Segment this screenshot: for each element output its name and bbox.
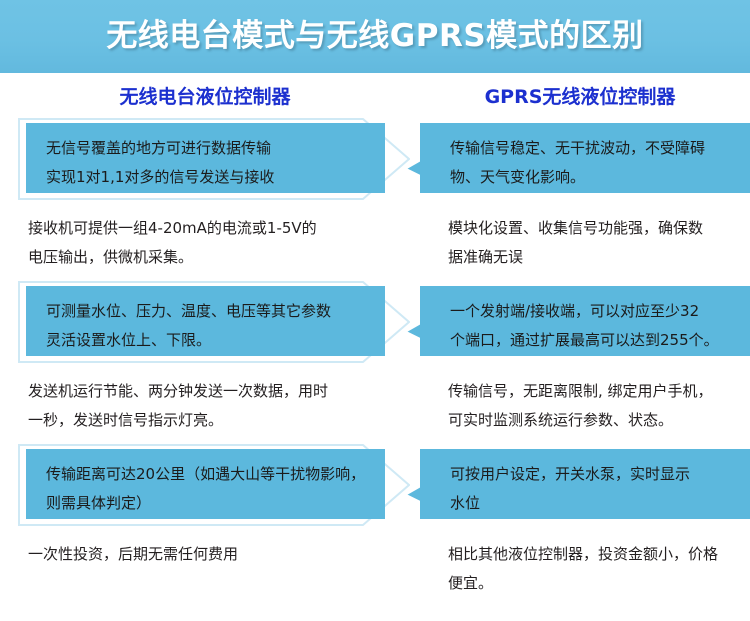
row-cell-left: 可测量水位、压力、温度、电压等其它参数灵活设置水位上、下限。 <box>0 278 410 365</box>
text-line: 可按用户设定，开关水泵，实时显示 <box>450 460 736 489</box>
page-title: 无线电台模式与无线GPRS模式的区别 <box>106 21 643 52</box>
left-plain-text: 接收机可提供一组4-20mA的电流或1-5V的电压输出，供微机采集。 <box>0 202 410 272</box>
text-line: 据准确无误 <box>448 243 736 272</box>
column-heading-right: GPRS无线液位控制器 <box>410 82 750 109</box>
text-line: 可测量水位、压力、温度、电压等其它参数 <box>46 297 369 326</box>
text-line: 物、天气变化影响。 <box>450 163 736 192</box>
right-box-text: 一个发射端/接收端，可以对应至少32个端口，通过扩展最高可以达到255个。 <box>450 297 736 355</box>
row-cell-left: 接收机可提供一组4-20mA的电流或1-5V的电压输出，供微机采集。 <box>0 202 410 278</box>
text-line: 接收机可提供一组4-20mA的电流或1-5V的 <box>28 214 390 243</box>
left-plain-text: 一次性投资，后期无需任何费用 <box>0 528 410 569</box>
right-box-text: 可按用户设定，开关水泵，实时显示水位 <box>450 460 736 518</box>
text-line: 无信号覆盖的地方可进行数据传输 <box>46 134 369 163</box>
text-line: 实现1对1,1对多的信号发送与接收 <box>46 163 369 192</box>
comparison-row: 可测量水位、压力、温度、电压等其它参数灵活设置水位上、下限。一个发射端/接收端，… <box>0 278 750 365</box>
left-highlight-box: 无信号覆盖的地方可进行数据传输实现1对1,1对多的信号发送与接收 <box>26 123 385 193</box>
row-cell-right: 传输信号，无距离限制, 绑定用户手机，可实时监测系统运行参数、状态。 <box>410 365 750 441</box>
text-line: 一秒，发送时信号指示灯亮。 <box>28 406 390 435</box>
text-line: 一次性投资，后期无需任何费用 <box>28 540 390 569</box>
left-box-text: 可测量水位、压力、温度、电压等其它参数灵活设置水位上、下限。 <box>46 297 369 355</box>
text-line: 相比其他液位控制器，投资金额小，价格 <box>448 540 736 569</box>
row-cell-right: 传输信号稳定、无干扰波动，不受障碍物、天气变化影响。 <box>410 115 750 202</box>
row-cell-right: 模块化设置、收集信号功能强，确保数据准确无误 <box>410 202 750 278</box>
text-line: 便宜。 <box>448 569 736 598</box>
text-line: 水位 <box>450 489 736 518</box>
right-plain-text: 相比其他液位控制器，投资金额小，价格便宜。 <box>410 528 750 598</box>
right-highlight-box: 可按用户设定，开关水泵，实时显示水位 <box>420 449 750 519</box>
row-cell-left: 发送机运行节能、两分钟发送一次数据，用时一秒，发送时信号指示灯亮。 <box>0 365 410 441</box>
text-line: 传输信号，无距离限制, 绑定用户手机， <box>448 377 736 406</box>
text-line: 电压输出，供微机采集。 <box>28 243 390 272</box>
comparison-row: 传输距离可达20公里（如遇大山等干扰物影响，则需具体判定）可按用户设定，开关水泵… <box>0 441 750 528</box>
comparison-row: 一次性投资，后期无需任何费用相比其他液位控制器，投资金额小，价格便宜。 <box>0 528 750 604</box>
left-highlight-box: 传输距离可达20公里（如遇大山等干扰物影响，则需具体判定） <box>26 449 385 519</box>
comparison-row: 接收机可提供一组4-20mA的电流或1-5V的电压输出，供微机采集。模块化设置、… <box>0 202 750 278</box>
left-plain-text: 发送机运行节能、两分钟发送一次数据，用时一秒，发送时信号指示灯亮。 <box>0 365 410 435</box>
column-headings: 无线电台液位控制器 GPRS无线液位控制器 <box>0 73 750 115</box>
text-line: 发送机运行节能、两分钟发送一次数据，用时 <box>28 377 390 406</box>
text-line: 个端口，通过扩展最高可以达到255个。 <box>450 326 736 355</box>
row-cell-right: 相比其他液位控制器，投资金额小，价格便宜。 <box>410 528 750 604</box>
left-highlight-box: 可测量水位、压力、温度、电压等其它参数灵活设置水位上、下限。 <box>26 286 385 356</box>
text-line: 可实时监测系统运行参数、状态。 <box>448 406 736 435</box>
right-plain-text: 模块化设置、收集信号功能强，确保数据准确无误 <box>410 202 750 272</box>
page-banner: 无线电台模式与无线GPRS模式的区别 <box>0 0 750 73</box>
left-box-text: 传输距离可达20公里（如遇大山等干扰物影响，则需具体判定） <box>46 460 369 518</box>
right-plain-text: 传输信号，无距离限制, 绑定用户手机，可实时监测系统运行参数、状态。 <box>410 365 750 435</box>
comparison-row: 发送机运行节能、两分钟发送一次数据，用时一秒，发送时信号指示灯亮。传输信号，无距… <box>0 365 750 441</box>
comparison-rows: 无信号覆盖的地方可进行数据传输实现1对1,1对多的信号发送与接收传输信号稳定、无… <box>0 115 750 604</box>
right-highlight-box: 传输信号稳定、无干扰波动，不受障碍物、天气变化影响。 <box>420 123 750 193</box>
column-heading-left: 无线电台液位控制器 <box>0 82 410 109</box>
text-line: 传输距离可达20公里（如遇大山等干扰物影响， <box>46 460 369 489</box>
row-cell-right: 一个发射端/接收端，可以对应至少32个端口，通过扩展最高可以达到255个。 <box>410 278 750 365</box>
right-box-text: 传输信号稳定、无干扰波动，不受障碍物、天气变化影响。 <box>450 134 736 192</box>
text-line: 灵活设置水位上、下限。 <box>46 326 369 355</box>
left-box-text: 无信号覆盖的地方可进行数据传输实现1对1,1对多的信号发送与接收 <box>46 134 369 192</box>
row-cell-left: 无信号覆盖的地方可进行数据传输实现1对1,1对多的信号发送与接收 <box>0 115 410 202</box>
row-cell-left: 一次性投资，后期无需任何费用 <box>0 528 410 604</box>
row-cell-right: 可按用户设定，开关水泵，实时显示水位 <box>410 441 750 528</box>
text-line: 则需具体判定） <box>46 489 369 518</box>
text-line: 模块化设置、收集信号功能强，确保数 <box>448 214 736 243</box>
comparison-row: 无信号覆盖的地方可进行数据传输实现1对1,1对多的信号发送与接收传输信号稳定、无… <box>0 115 750 202</box>
right-highlight-box: 一个发射端/接收端，可以对应至少32个端口，通过扩展最高可以达到255个。 <box>420 286 750 356</box>
text-line: 传输信号稳定、无干扰波动，不受障碍 <box>450 134 736 163</box>
text-line: 一个发射端/接收端，可以对应至少32 <box>450 297 736 326</box>
row-cell-left: 传输距离可达20公里（如遇大山等干扰物影响，则需具体判定） <box>0 441 410 528</box>
